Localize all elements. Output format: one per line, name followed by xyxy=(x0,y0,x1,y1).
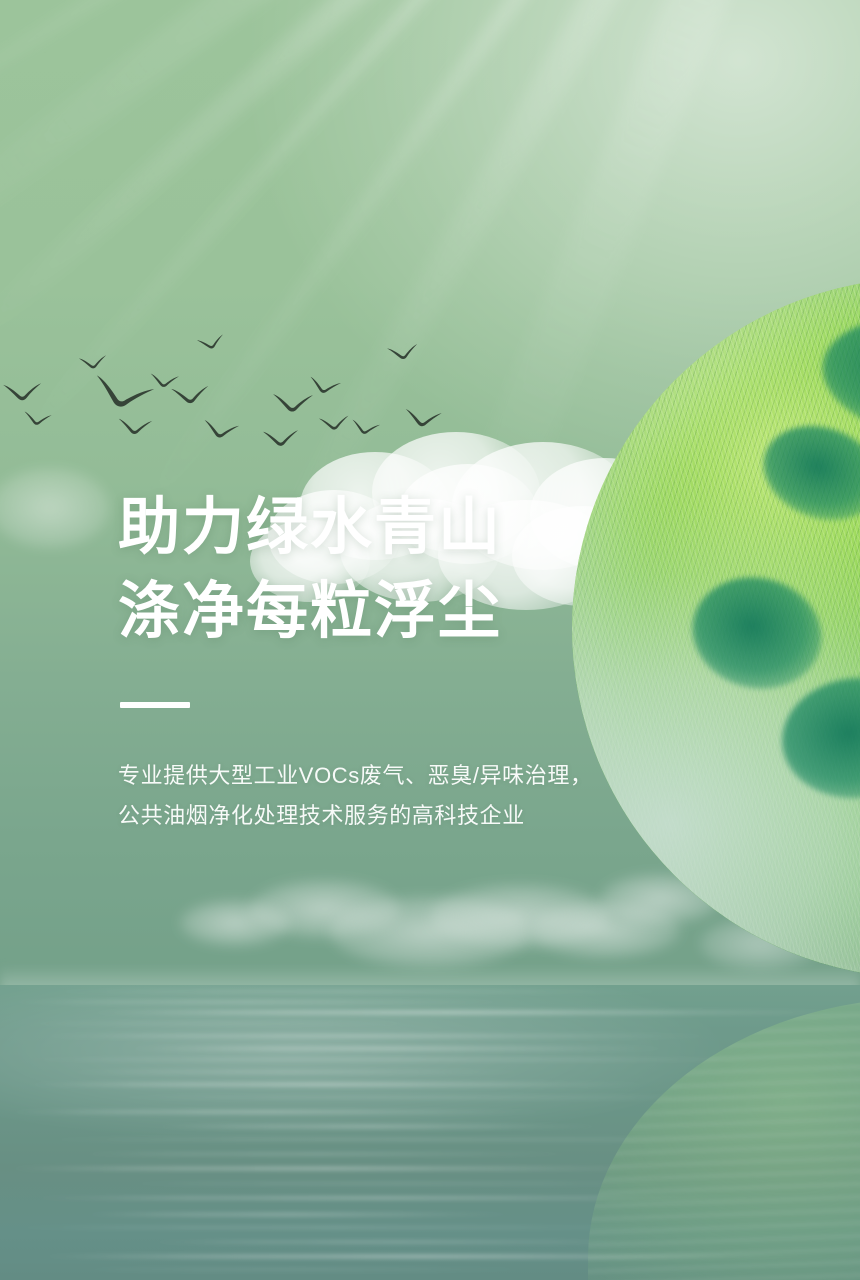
water-ripple-4 xyxy=(10,1023,440,1024)
environmental-hero-poster: 助力绿水青山 涤净每粒浮尘 专业提供大型工业VOCs废气、恶臭/异味治理， 公共… xyxy=(0,0,860,1280)
water-ripple-18 xyxy=(80,1213,520,1216)
water-ripple-15 xyxy=(0,1167,680,1170)
water-ripple-14 xyxy=(70,1153,590,1155)
headline-line-2: 涤净每粒浮尘 xyxy=(118,570,758,654)
water-ripple-1 xyxy=(40,991,700,992)
headline-divider xyxy=(120,702,190,708)
water-ripple-11 xyxy=(0,1111,560,1113)
water-ripple-2 xyxy=(0,1001,520,1003)
water-ripple-22 xyxy=(60,1269,560,1270)
headline-line-1: 助力绿水青山 xyxy=(118,486,758,570)
reflection-streaks xyxy=(588,998,860,1280)
hero-text-block: 助力绿水青山 涤净每粒浮尘 专业提供大型工业VOCs废气、恶臭/异味治理， 公共… xyxy=(118,486,758,836)
subtitle-line-1: 专业提供大型工业VOCs废气、恶臭/异味治理， xyxy=(118,756,758,796)
subtitle-line-2: 公共油烟净化处理技术服务的高科技企业 xyxy=(118,796,758,836)
globe-water-reflection xyxy=(588,998,860,1280)
water-ripple-9 xyxy=(20,1083,660,1086)
water-ripple-12 xyxy=(150,1125,610,1128)
water-ripple-8 xyxy=(60,1071,540,1073)
